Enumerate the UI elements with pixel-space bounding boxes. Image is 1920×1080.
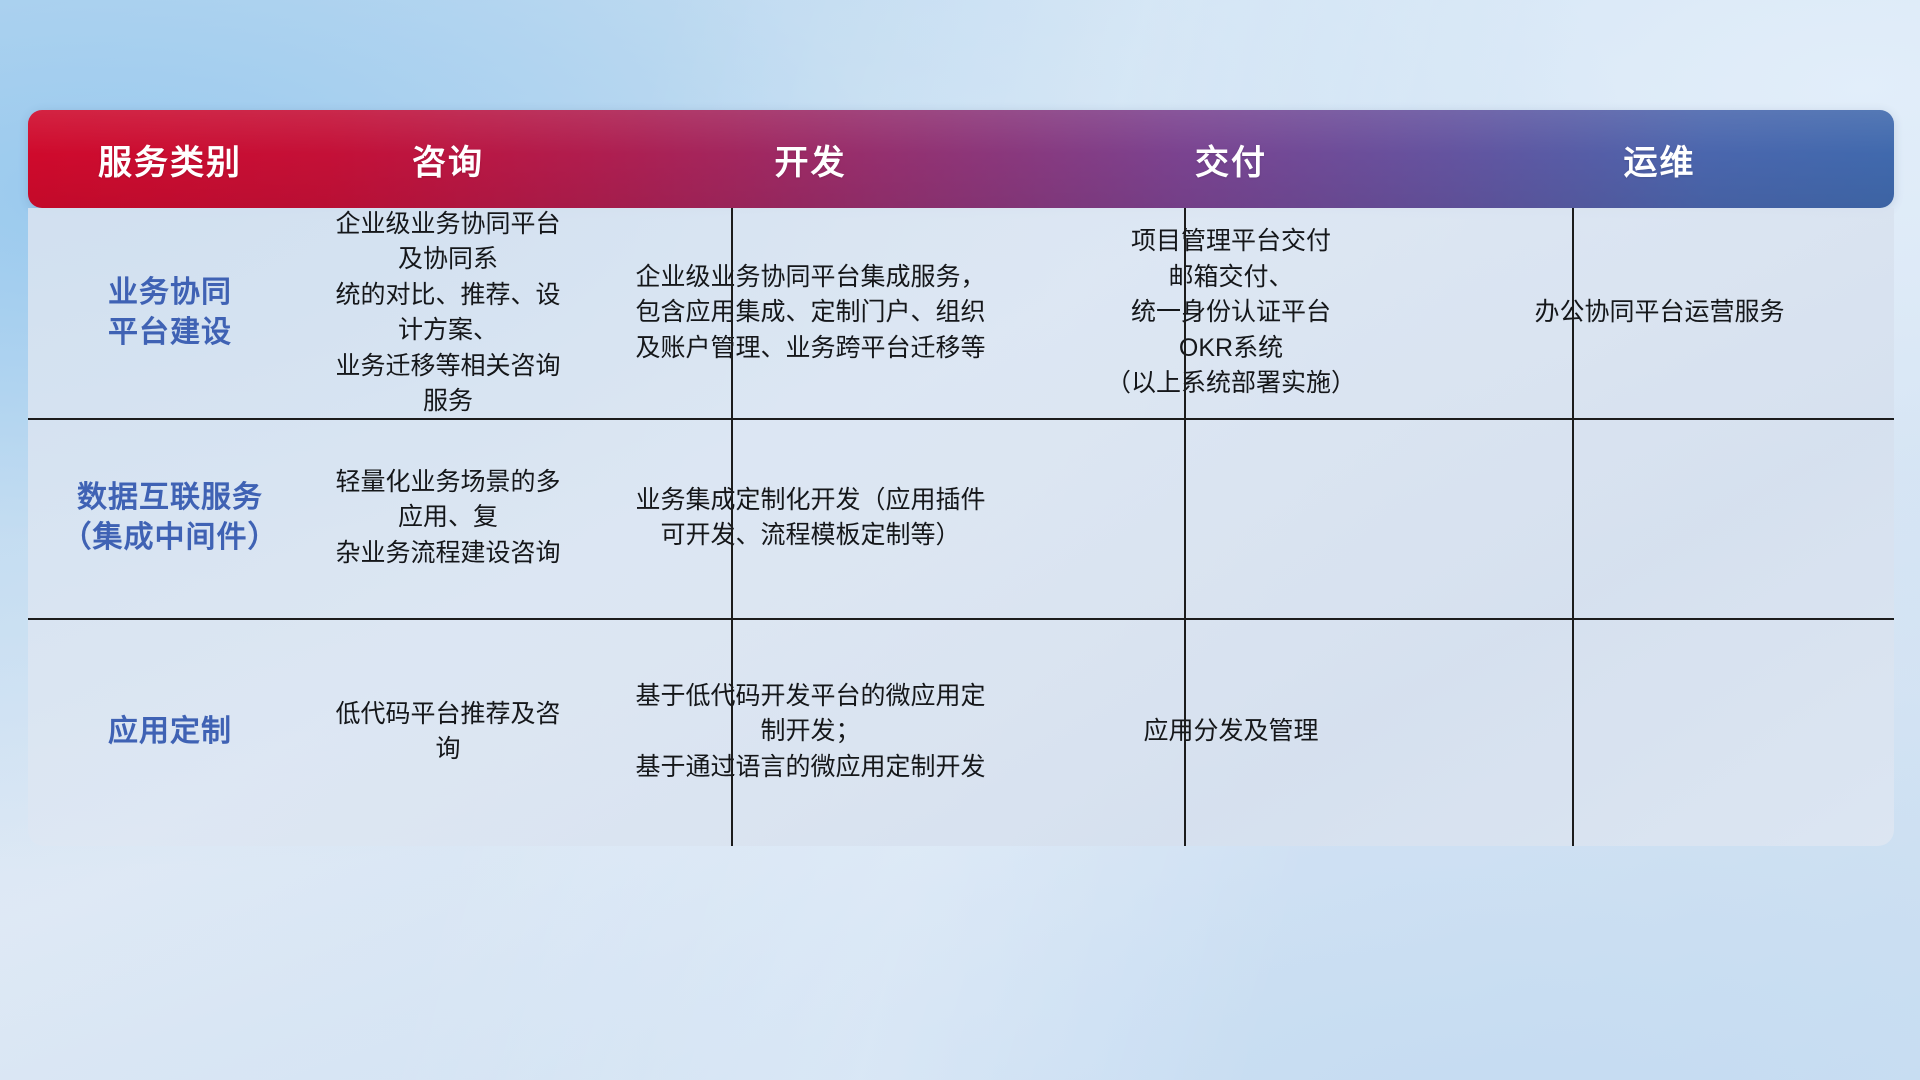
cell-r3-delivery: 应用分发及管理 [1037,618,1425,846]
cell-r1-development: 企业级业务协同平台集成服务， 包含应用集成、定制门户、组织 及账户管理、业务跨平… [584,208,1037,418]
column-header-development: 开发 [584,110,1037,208]
service-matrix-table: 服务类别 咨询 开发 交付 运维 业务协同 平台建设 企业级业务协同平台及协同系… [28,110,1894,846]
row-label-application-customization: 应用定制 [28,618,312,846]
cell-r3-operations [1425,618,1894,846]
grid-line-vertical-2 [1184,208,1186,846]
table-header-row: 服务类别 咨询 开发 交付 运维 [28,110,1894,208]
cell-r1-operations: 办公协同平台运营服务 [1425,208,1894,418]
cell-r3-development: 基于低代码开发平台的微应用定 制开发； 基于通过语言的微应用定制开发 [584,618,1037,846]
column-header-category: 服务类别 [28,110,312,208]
table-row: 应用定制 低代码平台推荐及咨询 基于低代码开发平台的微应用定 制开发； 基于通过… [28,618,1894,846]
column-header-consulting: 咨询 [312,110,584,208]
slide-canvas: 服务类别 咨询 开发 交付 运维 业务协同 平台建设 企业级业务协同平台及协同系… [0,0,1920,1080]
table-row: 业务协同 平台建设 企业级业务协同平台及协同系 统的对比、推荐、设计方案、 业务… [28,208,1894,418]
cell-r3-consulting: 低代码平台推荐及咨询 [312,618,584,846]
table-body: 业务协同 平台建设 企业级业务协同平台及协同系 统的对比、推荐、设计方案、 业务… [28,208,1894,846]
row-label-business-collaboration: 业务协同 平台建设 [28,208,312,418]
cell-r2-delivery [1037,418,1425,618]
row-label-data-interconnect: 数据互联服务 （集成中间件） [28,418,312,618]
cell-r2-consulting: 轻量化业务场景的多应用、复 杂业务流程建设咨询 [312,418,584,618]
grid-line-vertical-3 [1572,208,1574,846]
table-row: 数据互联服务 （集成中间件） 轻量化业务场景的多应用、复 杂业务流程建设咨询 业… [28,418,1894,618]
cell-r1-delivery: 项目管理平台交付 邮箱交付、 统一身份认证平台 OKR系统 （以上系统部署实施） [1037,208,1425,418]
grid-line-vertical-1 [731,208,733,846]
column-header-operations: 运维 [1425,110,1894,208]
cell-r2-operations [1425,418,1894,618]
cell-r2-development: 业务集成定制化开发（应用插件 可开发、流程模板定制等） [584,418,1037,618]
column-header-delivery: 交付 [1037,110,1425,208]
cell-r1-consulting: 企业级业务协同平台及协同系 统的对比、推荐、设计方案、 业务迁移等相关咨询服务 [312,208,584,418]
